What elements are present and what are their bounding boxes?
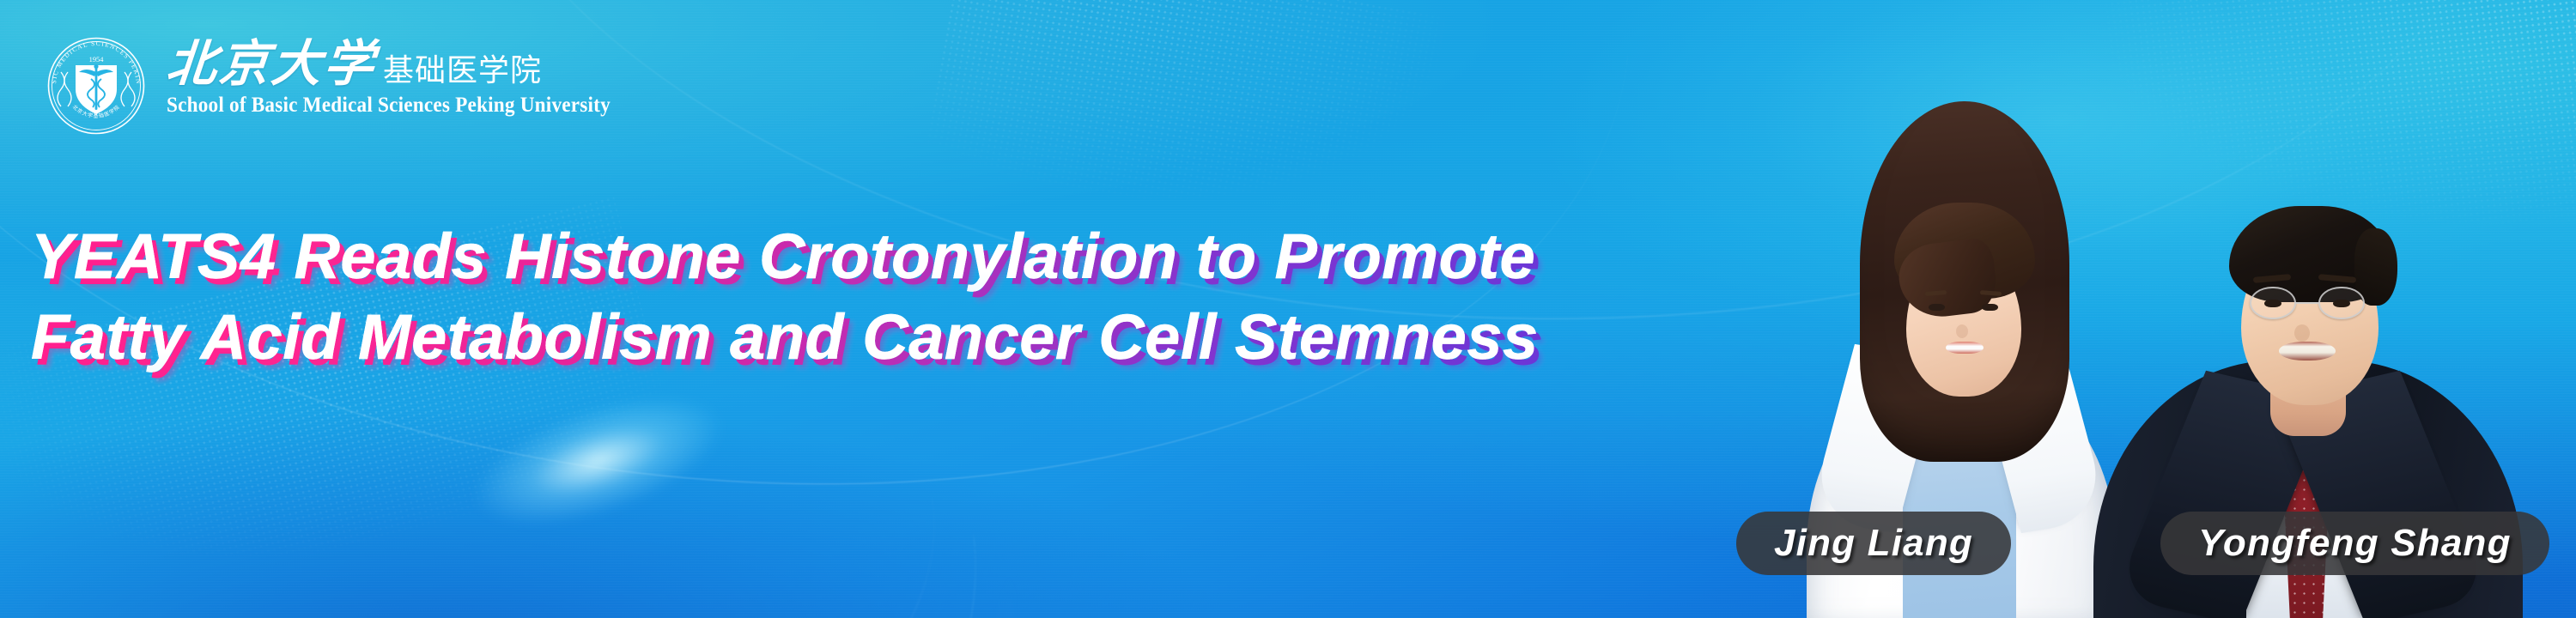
logo-cn-university: 北京大学 [164, 39, 378, 89]
logo-english-line: School of Basic Medical Sciences Peking … [167, 94, 611, 118]
eye-right [1982, 304, 1998, 311]
institution-logo: SCHOOL OF BASIC MEDICAL SCIENCES PEKING … [45, 34, 644, 137]
nose [1956, 324, 1968, 338]
name-badge-jing-liang[interactable]: Jing Liang [1736, 512, 2011, 575]
name-badge-yongfeng-shang[interactable]: Yongfeng Shang [2160, 512, 2549, 575]
svg-text:1954: 1954 [89, 56, 105, 64]
eyeglasses-bridge [2296, 302, 2318, 305]
mouth [2279, 342, 2336, 360]
mouth [1946, 342, 1984, 354]
logo-cn-school: 基础医学院 [383, 55, 542, 86]
conference-banner: SCHOOL OF BASIC MEDICAL SCIENCES PEKING … [0, 0, 2576, 618]
name-badge-label: Yongfeng Shang [2198, 522, 2512, 565]
logo-chinese-line: 北京大学 基础医学院 [167, 39, 644, 89]
title-line-1: YEATS4 Reads Histone Crotonylation to Pr… [31, 216, 1851, 297]
title-line-2-text: Fatty Acid Metabolism and Cancer Cell St… [31, 301, 1539, 373]
logo-text-block: 北京大学 基础医学院 School of Basic Medical Scien… [167, 34, 644, 118]
title-line-2: Fatty Acid Metabolism and Cancer Cell St… [31, 297, 1851, 378]
name-badge-label: Jing Liang [1774, 522, 1973, 565]
eye-left [1929, 304, 1945, 311]
nose [2294, 324, 2310, 342]
eye-left [2264, 300, 2281, 307]
title-line-1-text: YEATS4 Reads Histone Crotonylation to Pr… [31, 221, 1535, 292]
presentation-title: YEATS4 Reads Histone Crotonylation to Pr… [31, 216, 1851, 378]
eye-right [2333, 300, 2350, 307]
hair [2229, 206, 2392, 302]
university-seal-icon: SCHOOL OF BASIC MEDICAL SCIENCES PEKING … [45, 34, 148, 137]
